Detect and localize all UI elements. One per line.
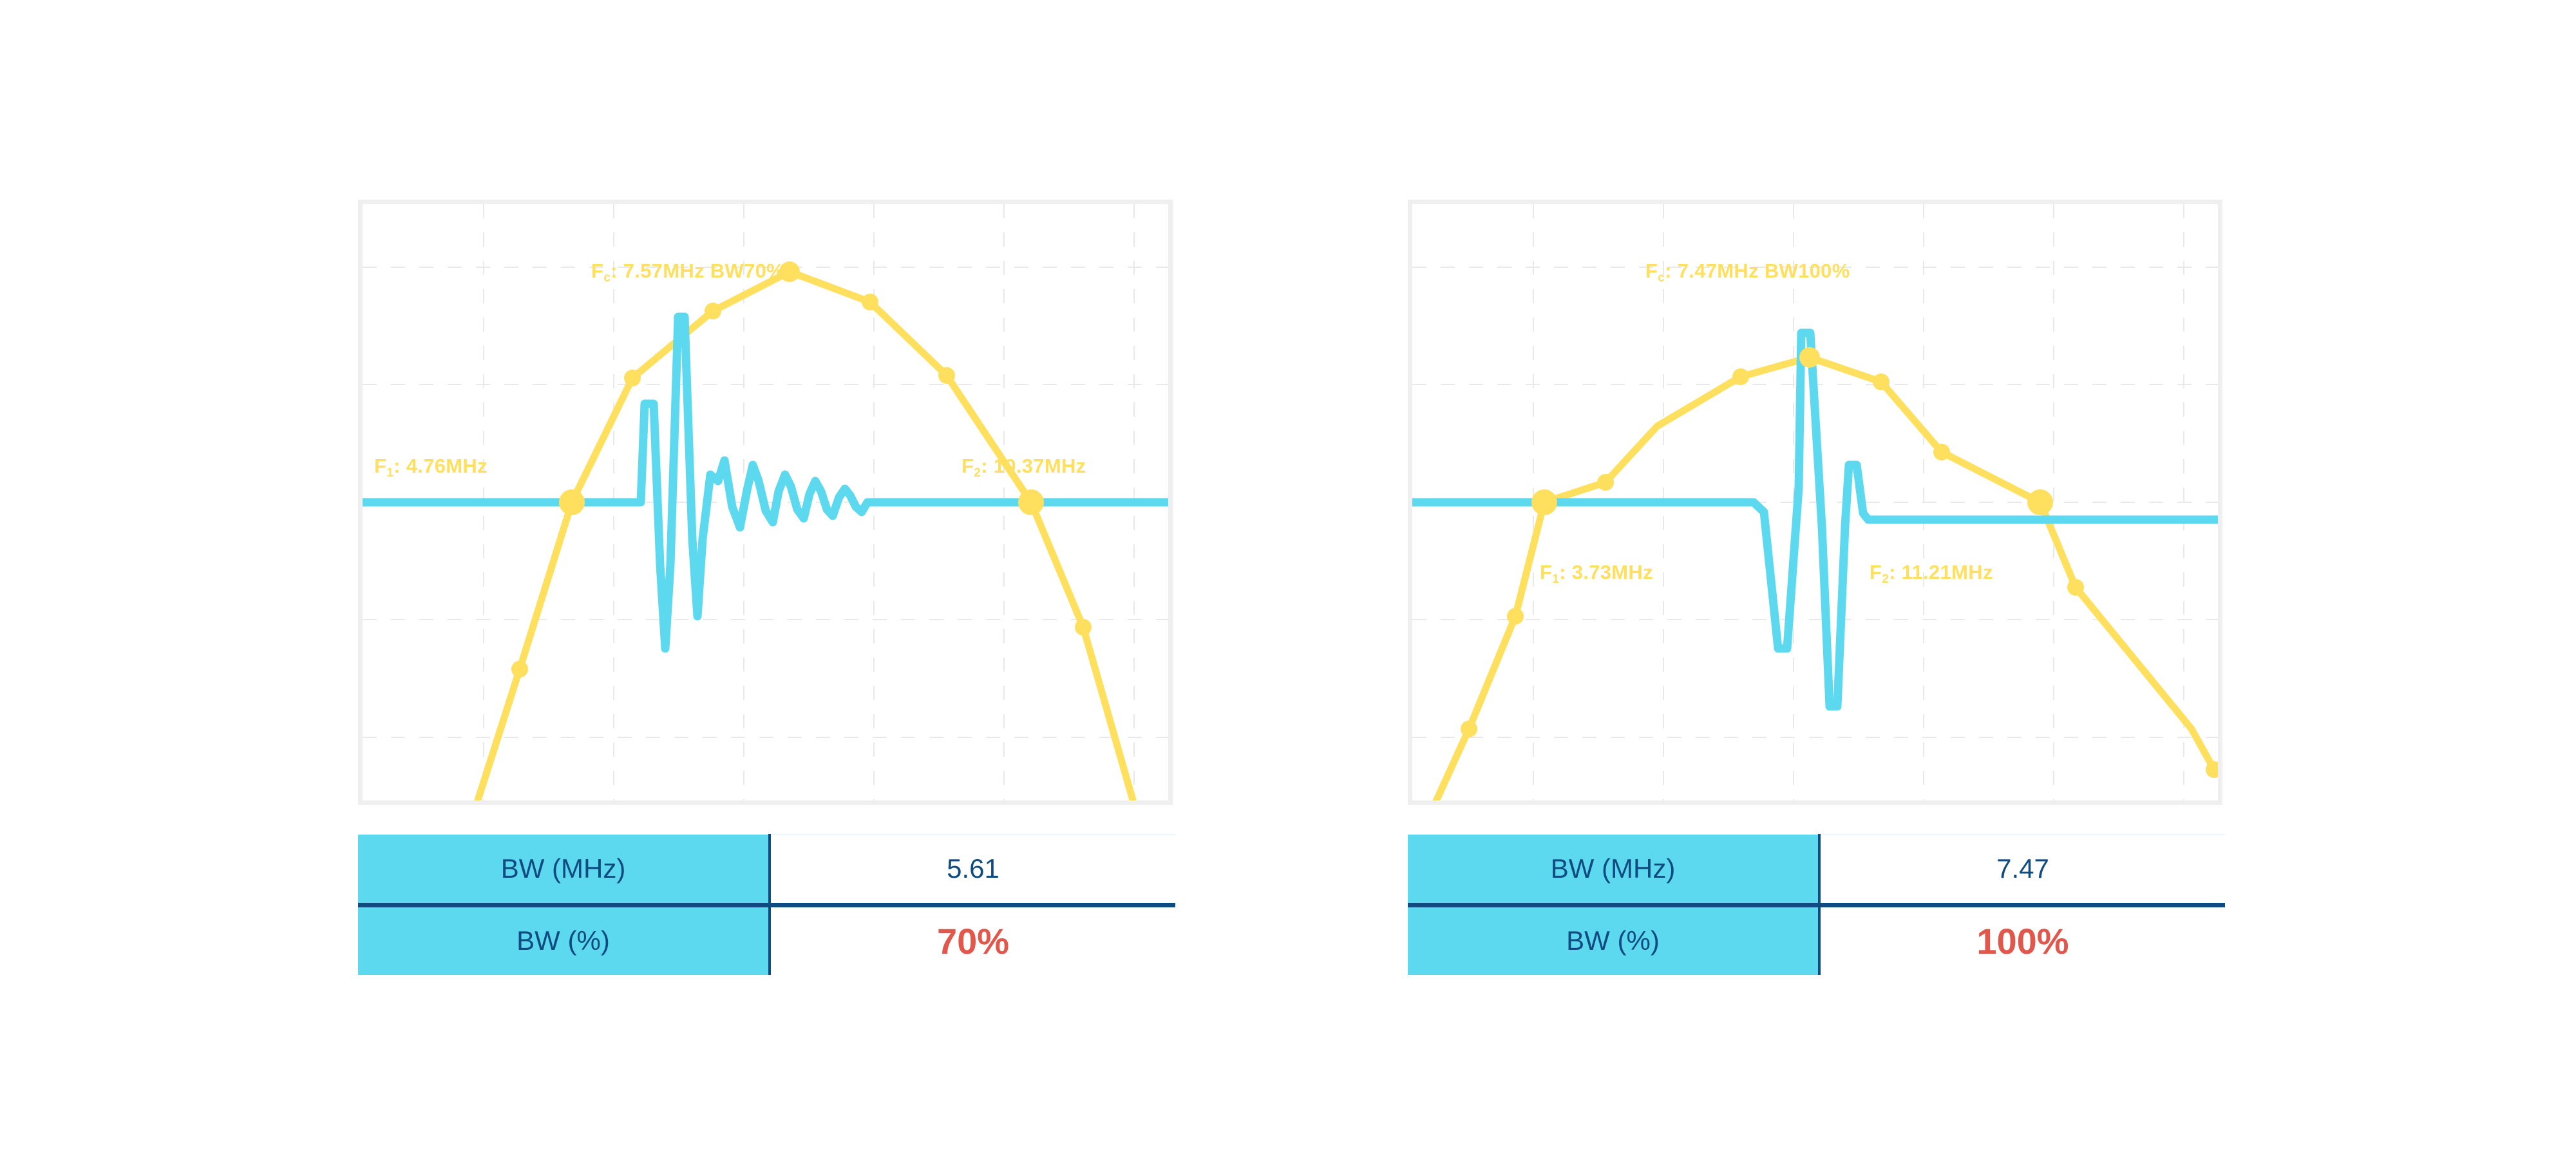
measurement-panel-right: Fc: 7.47MHz BW100% F1: 3.73MHz F2: 11.21… [1408,200,2222,975]
results-table-right: BW (MHz) 7.47 BW (%) 100% [1408,834,2225,975]
spectrum-chart-left [363,204,1168,800]
upper-frequency-label-left: F2: 10.37MHz [961,455,1086,480]
bw-mhz-label-right: BW (MHz) [1408,835,1819,905]
f2-text-left: : 10.37MHz [981,455,1086,477]
center-frequency-label-left: Fc: 7.57MHz BW70% [591,260,784,285]
f1-marker-right [1531,489,1557,515]
center-frequency-label-right: Fc: 7.47MHz BW100% [1645,260,1850,285]
bw-pct-label-right: BW (%) [1408,905,1819,975]
f2-subscript-left: 2 [974,466,981,480]
bw-pct-label-left: BW (%) [358,905,770,975]
spectrum-curve-left [471,272,1139,800]
bw-pct-value-left: 70% [770,905,1175,975]
table-row: BW (MHz) 7.47 [1408,835,2225,905]
canvas: Fc: 7.57MHz BW70% F1: 4.76MHz F2: 10.37M… [0,0,2576,1154]
f1-subscript-right: 1 [1552,572,1559,586]
fc-text-left: : 7.57MHz BW70% [611,260,784,282]
f1-text-left: : 4.76MHz [393,455,488,477]
f1-text-right: : 3.73MHz [1559,561,1653,583]
f1-subscript-left: 1 [386,466,393,480]
upper-frequency-label-right: F2: 11.21MHz [1870,561,1993,587]
results-table-left: BW (MHz) 5.61 BW (%) 70% [358,834,1175,975]
f1-marker-left [559,489,585,515]
lower-frequency-label-right: F1: 3.73MHz [1540,561,1653,587]
bw-mhz-value-left: 5.61 [770,835,1175,905]
f2-marker-left [1018,489,1044,515]
bw-mhz-value-right: 7.47 [1819,835,2225,905]
bw-mhz-label-left: BW (MHz) [358,835,770,905]
fc-subscript-left: c [603,271,611,285]
fc-text-right: : 7.47MHz BW100% [1665,260,1850,282]
table-row: BW (%) 100% [1408,905,2225,975]
fc-subscript-right: c [1658,271,1665,285]
chart-frame-right: Fc: 7.47MHz BW100% F1: 3.73MHz F2: 11.21… [1408,200,2222,805]
f2-marker-right [2027,489,2053,515]
chart-frame-left: Fc: 7.57MHz BW70% F1: 4.76MHz F2: 10.37M… [358,200,1173,805]
bw-pct-value-right: 100% [1819,905,2225,975]
measurement-panel-left: Fc: 7.57MHz BW70% F1: 4.76MHz F2: 10.37M… [358,200,1173,975]
spectrum-chart-right [1412,204,2218,800]
lower-frequency-label-left: F1: 4.76MHz [374,455,488,480]
table-row: BW (%) 70% [358,905,1175,975]
f2-text-right: : 11.21MHz [1889,561,1993,583]
table-row: BW (MHz) 5.61 [358,835,1175,905]
pulse-waveform-left [363,317,1168,648]
f2-subscript-right: 2 [1882,572,1889,586]
